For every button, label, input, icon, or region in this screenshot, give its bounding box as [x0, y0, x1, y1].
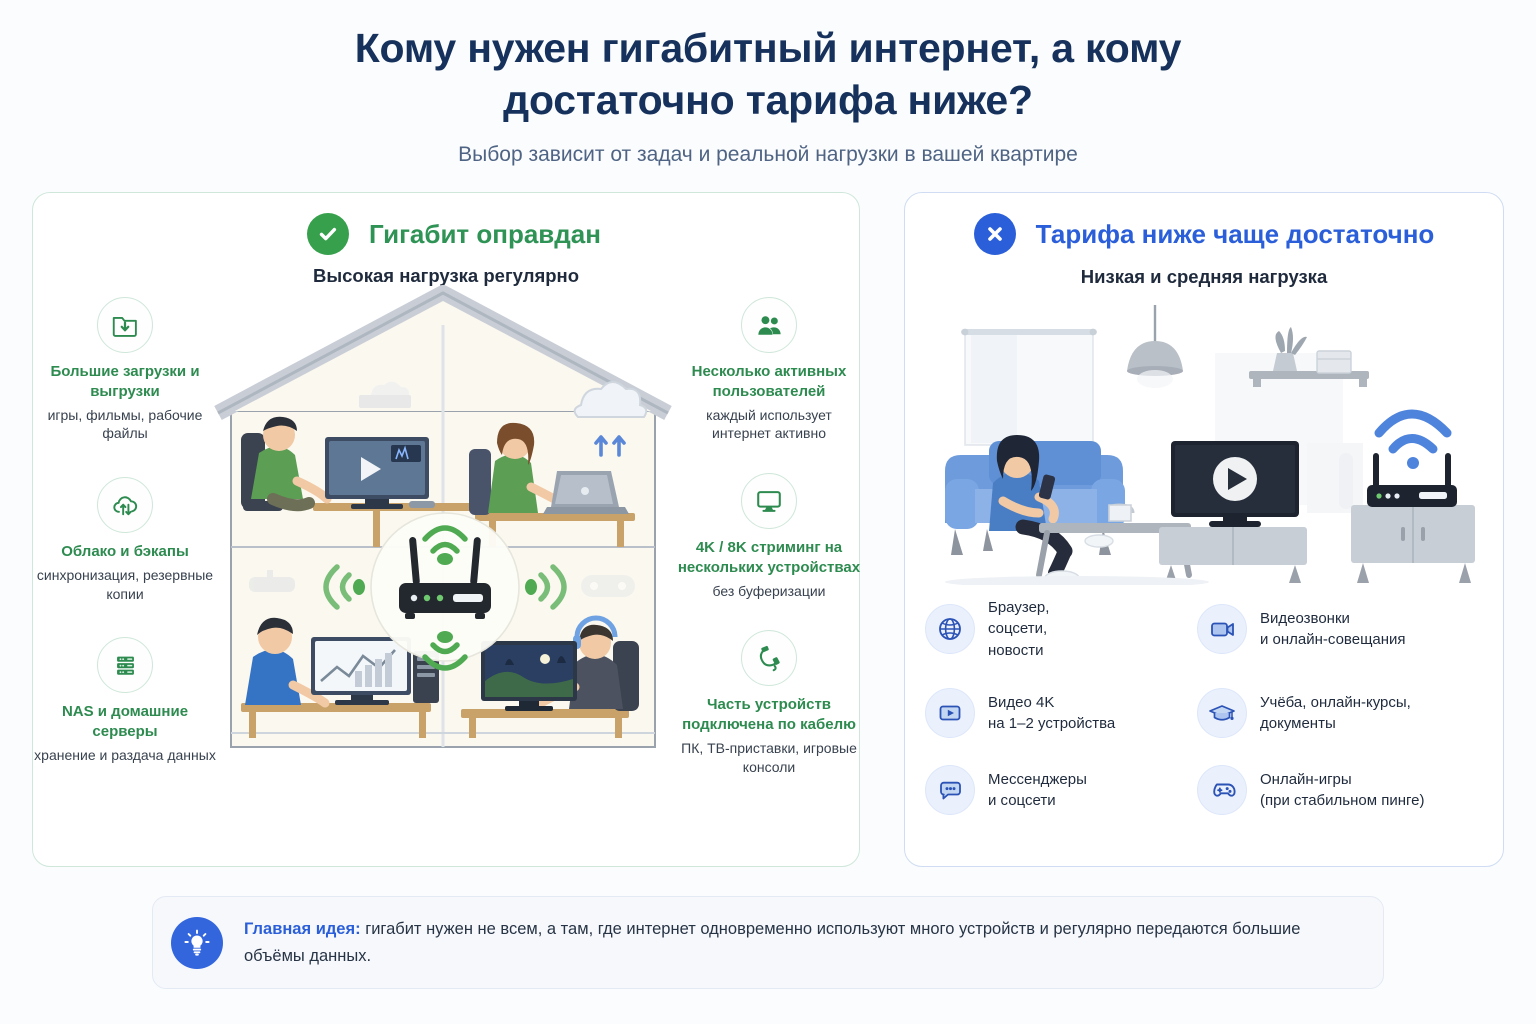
feature-desc: без буферизации	[677, 582, 861, 601]
key-idea-body: гигабит нужен не всем, а там, где интерн…	[244, 920, 1300, 965]
usage-item-browser: Браузер, соцсети, новости	[925, 597, 1197, 661]
usage-item-study: Учёба, онлайн-курсы, документы	[1197, 688, 1487, 738]
feature-title: Несколько активных пользователей	[677, 362, 861, 402]
key-idea-footer: Главная идея: гигабит нужен не всем, а т…	[152, 896, 1384, 989]
folder-download-icon	[97, 297, 153, 353]
header: Кому нужен гигабитный интернет, а кому д…	[0, 0, 1536, 167]
lower-tariff-enough-panel: Тарифа ниже чаще достаточно Низкая и сре…	[904, 192, 1504, 867]
usage-item-messengers: Мессенджеры и соцсети	[925, 765, 1197, 815]
globe-icon	[925, 604, 975, 654]
house-illustration-container	[217, 289, 677, 849]
feature-desc: игры, фильмы, рабочие файлы	[33, 406, 217, 444]
gamepad-icon	[1197, 765, 1247, 815]
panels-row: Гигабит оправдан Высокая нагрузка регуля…	[0, 192, 1536, 867]
x-circle-icon	[974, 213, 1016, 255]
feature-nas-home-servers: NAS и домашние серверы хранение и раздач…	[33, 637, 217, 764]
usage-item-online-games: Онлайн-игры (при стабильном пинге)	[1197, 765, 1487, 815]
page-title: Кому нужен гигабитный интернет, а кому д…	[0, 22, 1536, 126]
left-panel-body: Большие загрузки и выгрузки игры, фильмы…	[33, 289, 861, 849]
page-title-line-2: достаточно тарифа ниже?	[0, 74, 1536, 126]
video-camera-icon	[1197, 604, 1247, 654]
house-cutaway-illustration	[213, 285, 673, 763]
monitor-icon	[741, 473, 797, 529]
key-idea-text: Главная идея: гигабит нужен не всем, а т…	[244, 916, 1349, 969]
infographic-page: Кому нужен гигабитный интернет, а кому д…	[0, 0, 1536, 1024]
feature-desc: ПК, ТВ-приставки, игровые консоли	[677, 739, 861, 777]
feature-title: 4K / 8K стриминг на нескольких устройств…	[677, 538, 861, 578]
usage-item-label: Мессенджеры и соцсети	[988, 769, 1087, 812]
left-panel-subtitle: Высокая нагрузка регулярно	[33, 265, 859, 287]
cloud-sync-icon	[97, 477, 153, 533]
left-panel-header: Гигабит оправдан	[33, 193, 859, 255]
page-subtitle: Выбор зависит от задач и реальной нагруз…	[0, 143, 1536, 167]
usage-item-label: Учёба, онлайн-курсы, документы	[1260, 692, 1411, 735]
feature-desc: синхронизация, резервные копии	[33, 566, 217, 604]
server-stack-icon	[97, 637, 153, 693]
graduation-cap-icon	[1197, 688, 1247, 738]
usage-item-label: Видео 4K на 1–2 устройства	[988, 692, 1115, 735]
usage-item-label: Видеозвонки и онлайн-совещания	[1260, 608, 1406, 651]
right-features-column: Несколько активных пользователей каждый …	[677, 289, 861, 849]
lightbulb-icon	[171, 917, 223, 969]
right-panel-header: Тарифа ниже чаще достаточно	[905, 193, 1503, 255]
feature-desc: каждый использует интернет активно	[677, 406, 861, 444]
usage-item-label: Онлайн-игры (при стабильном пинге)	[1260, 769, 1424, 812]
feature-wired-devices: Часть устройств подключена по кабелю ПК,…	[677, 630, 861, 776]
feature-desc: хранение и раздача данных	[33, 746, 217, 765]
right-panel-subtitle: Низкая и средняя нагрузка	[905, 266, 1503, 288]
key-idea-label: Главная идея:	[244, 920, 361, 938]
usage-item-video-calls: Видеозвонки и онлайн-совещания	[1197, 597, 1487, 661]
feature-4k-8k-streaming: 4K / 8K стриминг на нескольких устройств…	[677, 473, 861, 600]
feature-title: Часть устройств подключена по кабелю	[677, 695, 861, 735]
ethernet-cable-icon	[741, 630, 797, 686]
living-room-illustration	[927, 293, 1483, 585]
feature-large-downloads: Большие загрузки и выгрузки игры, фильмы…	[33, 297, 217, 443]
feature-title: Облако и бэкапы	[33, 542, 217, 562]
play-box-icon	[925, 688, 975, 738]
usage-item-video-4k: Видео 4K на 1–2 устройства	[925, 688, 1197, 738]
check-circle-icon	[307, 213, 349, 255]
left-panel-title: Гигабит оправдан	[369, 219, 601, 250]
chat-bubble-icon	[925, 765, 975, 815]
left-features-column: Большие загрузки и выгрузки игры, фильмы…	[33, 289, 217, 849]
page-title-line-1: Кому нужен гигабитный интернет, а кому	[0, 22, 1536, 74]
feature-cloud-backups: Облако и бэкапы синхронизация, резервные…	[33, 477, 217, 603]
usage-items-grid: Браузер, соцсети, новости Видеозвонки	[925, 597, 1487, 815]
right-panel-title: Тарифа ниже чаще достаточно	[1036, 219, 1435, 250]
gigabit-justified-panel: Гигабит оправдан Высокая нагрузка регуля…	[32, 192, 860, 867]
feature-multiple-users: Несколько активных пользователей каждый …	[677, 297, 861, 443]
usage-item-label: Браузер, соцсети, новости	[988, 597, 1049, 661]
users-group-icon	[741, 297, 797, 353]
feature-title: NAS и домашние серверы	[33, 702, 217, 742]
feature-title: Большие загрузки и выгрузки	[33, 362, 217, 402]
